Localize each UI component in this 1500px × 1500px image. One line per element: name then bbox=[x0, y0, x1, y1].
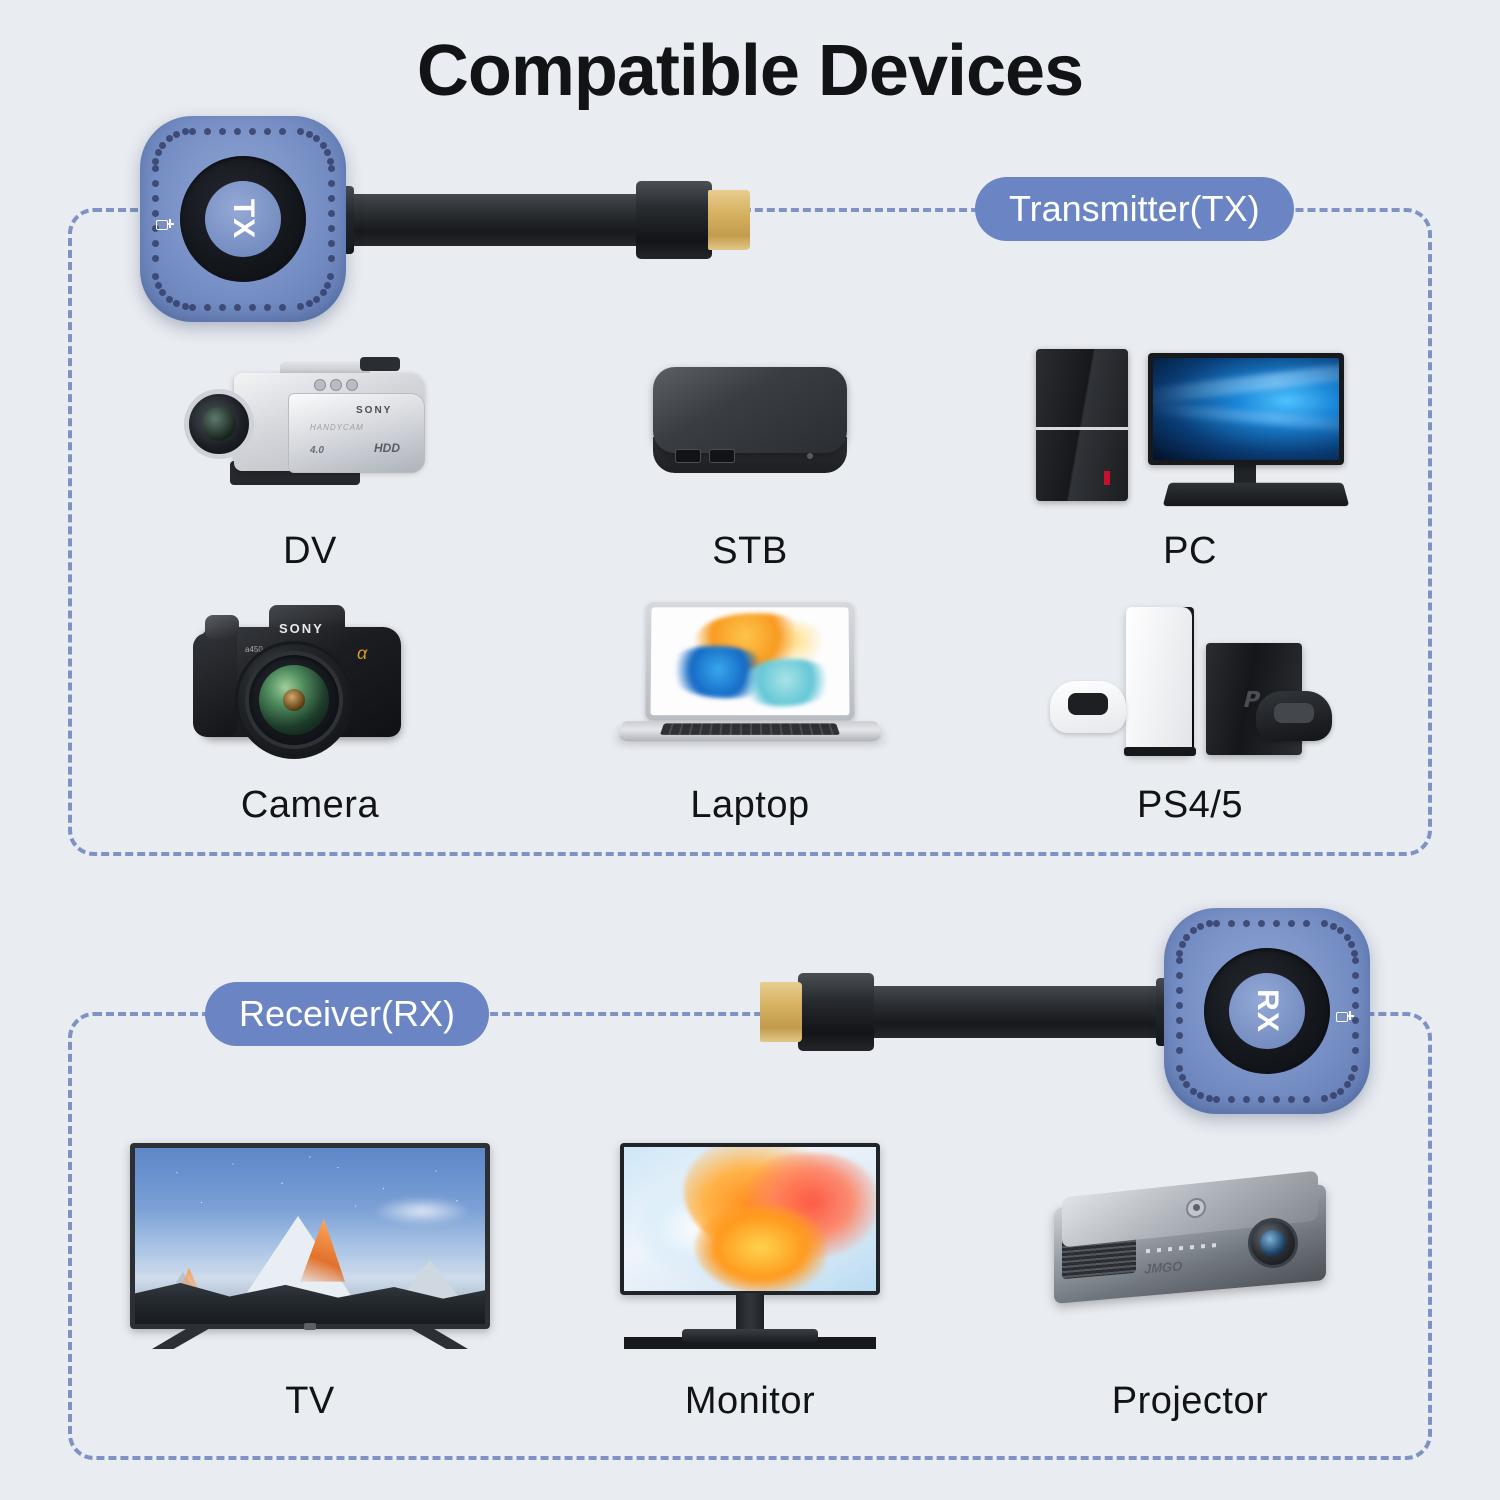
receiver-dongle: RX bbox=[690, 900, 1370, 1140]
device-label: PC bbox=[1163, 532, 1217, 570]
dongle-vent-dot bbox=[1179, 941, 1186, 948]
dongle-vent-dot bbox=[249, 128, 256, 135]
dongle-vent-dot bbox=[320, 142, 327, 149]
transmitter-badge: Transmitter(TX) bbox=[975, 177, 1294, 241]
television-icon bbox=[90, 1120, 530, 1376]
receiver-device-grid: TV Monitor bbox=[90, 1120, 1410, 1420]
hdmi-icon bbox=[1336, 1010, 1354, 1024]
dongle-vent-dot bbox=[328, 225, 335, 232]
device-label: TV bbox=[285, 1382, 335, 1420]
dongle-vent-dot bbox=[1243, 1096, 1250, 1103]
device-cell-laptop: Laptop bbox=[530, 584, 970, 824]
dongle-vent-dot bbox=[328, 210, 335, 217]
transmitter-dongle: TX bbox=[140, 100, 820, 340]
dongle-vent-dot bbox=[1348, 941, 1355, 948]
dongle-vent-dot bbox=[1258, 920, 1265, 927]
dongle-vent-dot bbox=[152, 240, 159, 247]
dongle-vent-dot bbox=[152, 273, 159, 280]
set-top-box-icon bbox=[530, 330, 970, 526]
dongle-vent-dot bbox=[1337, 1088, 1344, 1095]
dongle-vent-dot bbox=[327, 158, 334, 165]
dongle-label: RX bbox=[1250, 989, 1284, 1033]
dongle-vent-dot bbox=[1179, 1074, 1186, 1081]
dongle-vent-dot bbox=[279, 128, 286, 135]
dongle-vent-dot bbox=[204, 304, 211, 311]
dongle-vent-dot bbox=[1176, 972, 1183, 979]
dongle-vent-dot bbox=[182, 128, 189, 135]
dongle-vent-dot bbox=[279, 304, 286, 311]
dongle-vent-dot bbox=[1228, 920, 1235, 927]
dslr-camera-icon: SONY a450 α bbox=[90, 584, 530, 780]
dongle-vent-dot bbox=[1176, 1047, 1183, 1054]
projector-icon: JMGO bbox=[970, 1120, 1410, 1376]
dongle-vent-dot bbox=[1258, 1096, 1265, 1103]
dongle-vent-dot bbox=[328, 165, 335, 172]
dongle-vent-dot bbox=[1176, 950, 1183, 957]
dongle-vent-dot bbox=[1176, 957, 1183, 964]
dongle-vent-dot bbox=[1352, 1002, 1359, 1009]
dongle-vent-dot bbox=[324, 149, 331, 156]
dongle-label: TX bbox=[226, 199, 260, 239]
dongle-vent-dot bbox=[1190, 1088, 1197, 1095]
receiver-badge: Receiver(RX) bbox=[205, 982, 489, 1046]
dongle-vent-dot bbox=[1351, 950, 1358, 957]
dongle-vent-dot bbox=[152, 165, 159, 172]
dongle-vent-dot bbox=[1197, 923, 1204, 930]
hdmi-cable bbox=[322, 194, 652, 246]
dongle-vent-dot bbox=[166, 135, 173, 142]
dongle-face-center: TX bbox=[205, 181, 281, 257]
device-cell-projector: JMGO Projector bbox=[970, 1120, 1410, 1420]
dongle-vent-dot bbox=[1176, 987, 1183, 994]
dongle-vent-dot bbox=[1344, 1081, 1351, 1088]
dongle-vent-dot bbox=[1352, 972, 1359, 979]
dongle-vent-dot bbox=[189, 304, 196, 311]
hdmi-connector-pins bbox=[708, 190, 750, 250]
dongle-vent-dot bbox=[313, 135, 320, 142]
dongle-vent-dot bbox=[219, 128, 226, 135]
dongle-vent-dot bbox=[1288, 1096, 1295, 1103]
device-cell-camera: SONY a450 α Camera bbox=[90, 584, 530, 824]
dongle-vent-dot bbox=[1228, 1096, 1235, 1103]
dongle-vent-dot bbox=[306, 300, 313, 307]
dongle-vent-dot bbox=[1190, 927, 1197, 934]
dongle-vent-dot bbox=[297, 128, 304, 135]
dongle-vent-dot bbox=[1176, 1032, 1183, 1039]
dongle-vent-dot bbox=[173, 131, 180, 138]
dongle-vent-dot bbox=[1352, 987, 1359, 994]
dongle-face-center: RX bbox=[1229, 973, 1305, 1049]
device-label: DV bbox=[283, 532, 337, 570]
dongle-vent-dot bbox=[166, 296, 173, 303]
dongle-vent-dot bbox=[306, 131, 313, 138]
dongle-vent-dot bbox=[204, 128, 211, 135]
device-label: PS4/5 bbox=[1137, 786, 1243, 824]
device-cell-stb: STB bbox=[530, 330, 970, 570]
dongle-vent-dot bbox=[1352, 1047, 1359, 1054]
device-cell-console: 𝗣 PS4/5 bbox=[970, 584, 1410, 824]
dongle-vent-dot bbox=[152, 195, 159, 202]
device-cell-dv: SONY HANDYCAM 4.0 HDD DV bbox=[90, 330, 530, 570]
dongle-vent-dot bbox=[1176, 1002, 1183, 1009]
dongle-vent-dot bbox=[1352, 957, 1359, 964]
dongle-vent-dot bbox=[249, 304, 256, 311]
dongle-vent-dot bbox=[1213, 920, 1220, 927]
dongle-vent-dot bbox=[1303, 1096, 1310, 1103]
dongle-vent-dot bbox=[328, 195, 335, 202]
dongle-vent-dot bbox=[1352, 1032, 1359, 1039]
dongle-vent-dot bbox=[328, 255, 335, 262]
dongle-vent-dot bbox=[152, 180, 159, 187]
camcorder-icon: SONY HANDYCAM 4.0 HDD bbox=[90, 330, 530, 526]
dongle-vent-dot bbox=[189, 128, 196, 135]
hdmi-icon bbox=[156, 218, 174, 232]
dongle-vent-dot bbox=[1330, 1092, 1337, 1099]
hdmi-connector-shell bbox=[636, 181, 712, 259]
monitor-icon bbox=[530, 1120, 970, 1376]
dongle-vent-dot bbox=[1344, 934, 1351, 941]
dongle-vent-dot bbox=[328, 180, 335, 187]
dongle-vent-dot bbox=[1321, 920, 1328, 927]
dongle-vent-dot bbox=[297, 303, 304, 310]
dongle-vent-dot bbox=[1176, 1065, 1183, 1072]
device-cell-pc: PC bbox=[970, 330, 1410, 570]
dongle-vent-dot bbox=[152, 255, 159, 262]
device-label: Projector bbox=[1112, 1382, 1269, 1420]
dongle-vent-dot bbox=[234, 128, 241, 135]
desktop-computer-icon bbox=[970, 330, 1410, 526]
dongle-vent-dot bbox=[155, 149, 162, 156]
dongle-vent-dot bbox=[1330, 923, 1337, 930]
dongle-vent-dot bbox=[1351, 1065, 1358, 1072]
dongle-vent-dot bbox=[1273, 920, 1280, 927]
dongle-vent-dot bbox=[1288, 920, 1295, 927]
device-label: Laptop bbox=[690, 786, 809, 824]
dongle-vent-dot bbox=[182, 303, 189, 310]
dongle-vent-dot bbox=[1337, 927, 1344, 934]
dongle-vent-dot bbox=[1206, 1095, 1213, 1102]
device-label: Monitor bbox=[685, 1382, 815, 1420]
dongle-vent-dot bbox=[1206, 920, 1213, 927]
dongle-vent-dot bbox=[1183, 1081, 1190, 1088]
dongle-vent-dot bbox=[320, 289, 327, 296]
dongle-vent-dot bbox=[155, 282, 162, 289]
dongle-vent-dot bbox=[264, 304, 271, 311]
dongle-vent-dot bbox=[1243, 920, 1250, 927]
dongle-vent-dot bbox=[159, 289, 166, 296]
dongle-vent-dot bbox=[324, 282, 331, 289]
dongle-vent-dot bbox=[1183, 934, 1190, 941]
device-label: STB bbox=[712, 532, 787, 570]
dongle-vent-dot bbox=[152, 210, 159, 217]
dongle-vent-dot bbox=[1273, 1096, 1280, 1103]
hdmi-cable bbox=[858, 986, 1188, 1038]
device-cell-tv: TV bbox=[90, 1120, 530, 1420]
dongle-vent-dot bbox=[1348, 1074, 1355, 1081]
dongle-vent-dot bbox=[1176, 1017, 1183, 1024]
hdmi-connector-shell bbox=[798, 973, 874, 1051]
dongle-vent-dot bbox=[173, 300, 180, 307]
dongle-vent-dot bbox=[159, 142, 166, 149]
infographic-page: Compatible Devices Transmitter(TX) TX bbox=[0, 0, 1500, 1500]
dongle-vent-dot bbox=[313, 296, 320, 303]
hdmi-connector-pins bbox=[760, 982, 802, 1042]
device-cell-monitor: Monitor bbox=[530, 1120, 970, 1420]
dongle-vent-dot bbox=[1303, 920, 1310, 927]
dongle-vent-dot bbox=[234, 304, 241, 311]
game-console-icon: 𝗣 bbox=[970, 584, 1410, 780]
dongle-vent-dot bbox=[1321, 1095, 1328, 1102]
dongle-vent-dot bbox=[328, 240, 335, 247]
dongle-vent-dot bbox=[264, 128, 271, 135]
dongle-vent-dot bbox=[152, 158, 159, 165]
transmitter-device-grid: SONY HANDYCAM 4.0 HDD DV STB bbox=[90, 330, 1410, 824]
device-label: Camera bbox=[241, 786, 379, 824]
laptop-icon bbox=[530, 584, 970, 780]
dongle-vent-dot bbox=[327, 273, 334, 280]
dongle-vent-dot bbox=[1213, 1096, 1220, 1103]
dongle-vent-dot bbox=[219, 304, 226, 311]
dongle-vent-dot bbox=[1197, 1092, 1204, 1099]
